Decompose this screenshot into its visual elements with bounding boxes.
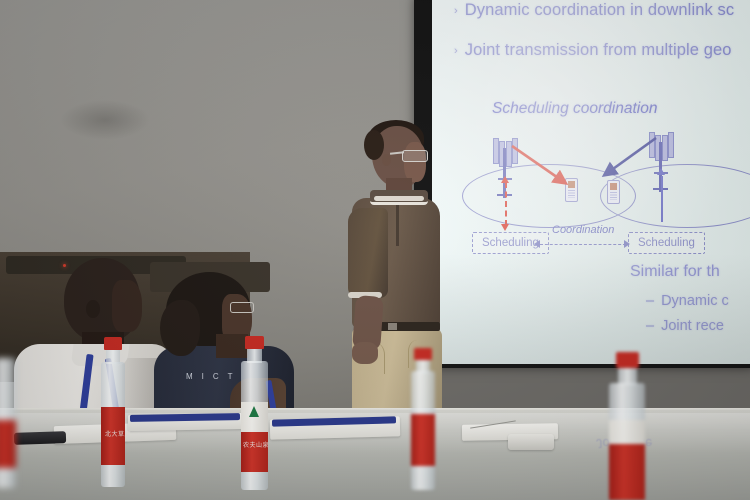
slide-subitem-2: – Joint rece [646, 318, 724, 334]
water-bottle-1: 北大草原 [100, 337, 126, 487]
presenter-face [404, 142, 426, 182]
attendee-2-shirt-logo: M I C T [186, 372, 236, 381]
attendee-1-ear [86, 300, 100, 318]
coordination-label: Coordination [552, 224, 614, 236]
slide-subitem-2-text: Joint rece [661, 318, 724, 334]
microphone-base [508, 434, 554, 450]
coordination-arrow-right-icon [624, 240, 630, 248]
wall-smudge [60, 100, 150, 140]
bullet-marker-icon: › [454, 41, 458, 61]
uplink-arrowhead-right-icon [657, 168, 665, 175]
mobile-handset-right-icon [607, 180, 620, 204]
dash-marker-icon: – [646, 293, 654, 309]
uplink-arrowtip-left-icon [501, 224, 509, 231]
projection-screen: › Dynamic coordination in downlink sc › … [432, 0, 750, 364]
slide-bullet-1: › Dynamic coordination in downlink sc [454, 1, 734, 21]
attendee-1-face [112, 280, 142, 332]
water-bottle-2: 农夫山泉 [240, 336, 270, 490]
downlink-arrow-blue-icon [600, 136, 658, 182]
uplink-line-right [661, 176, 663, 222]
water-bottle-3 [410, 348, 436, 490]
presenter-hand [352, 342, 378, 364]
presentation-photo: › Dynamic coordination in downlink sc › … [0, 0, 750, 500]
presenter-person [330, 120, 465, 450]
scheduling-box-right: Scheduling [628, 232, 705, 254]
water-bottle-5 [0, 358, 18, 488]
bullet-marker-icon: › [454, 1, 458, 21]
slide-subitem-1: – Dynamic c [646, 293, 729, 309]
attendee-2-hair-side [160, 300, 200, 356]
presenter-sleeve [348, 208, 388, 298]
downlink-arrow-red-icon [510, 144, 572, 188]
dash-marker-icon: – [646, 318, 654, 334]
diagram-title: Scheduling coordination [492, 100, 657, 118]
slide-subitem-1-text: Dynamic c [661, 293, 729, 309]
presenter-collar-trim [374, 196, 424, 201]
presenter-shirt-placket [396, 204, 399, 246]
mobile-phone-on-table [14, 431, 66, 445]
presenter-ear [382, 154, 391, 166]
slide-subsection-heading: Similar for th [630, 263, 720, 281]
water-bottle-4 [608, 352, 646, 500]
uplink-dashed-line-left [505, 182, 507, 226]
slide-bullet-2-text: Joint transmission from multiple geo [465, 41, 732, 60]
attendee-2-glasses-icon [230, 302, 254, 313]
presenter-belt-buckle [388, 323, 397, 330]
presenter-glasses-icon [402, 150, 428, 162]
presenter-hair-side [364, 130, 384, 160]
slide-bullet-1-text: Dynamic coordination in downlink sc [465, 1, 734, 20]
coordination-link-line [540, 244, 626, 245]
slide-bullet-2: › Joint transmission from multiple geo [454, 41, 732, 61]
